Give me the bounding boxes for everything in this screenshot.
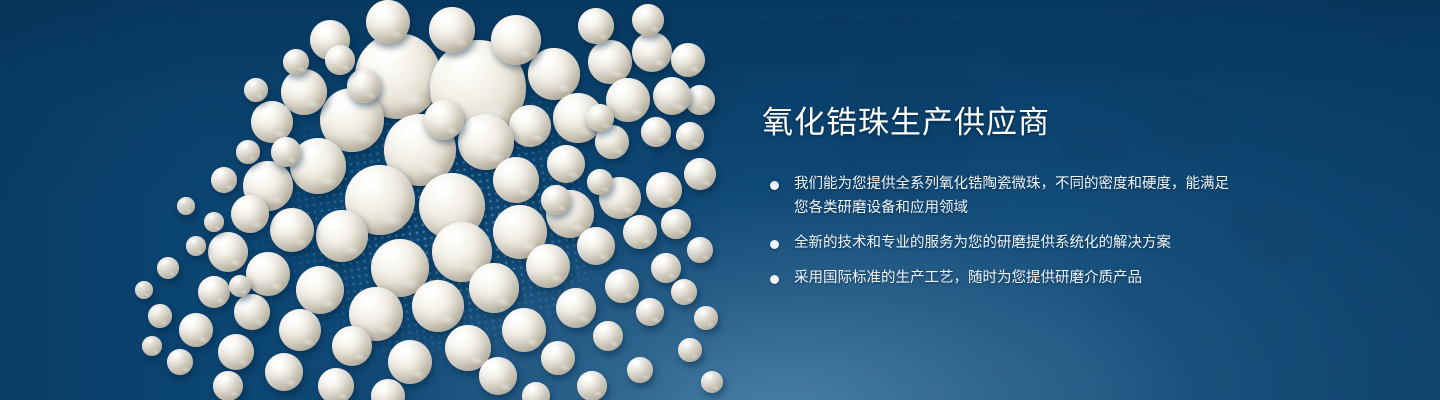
bead xyxy=(577,227,615,265)
bead xyxy=(270,208,314,252)
bead xyxy=(186,236,206,256)
bead xyxy=(623,215,657,249)
list-item: 我们能为您提供全系列氧化锆陶瓷微珠，不同的密度和硬度，能满足您各类研磨设备和应用… xyxy=(762,173,1232,221)
bead xyxy=(316,210,368,262)
bead xyxy=(135,281,153,299)
bead xyxy=(218,334,254,370)
bead xyxy=(231,195,269,233)
bead xyxy=(593,321,623,351)
bead xyxy=(684,158,716,190)
bead xyxy=(522,382,550,400)
bead xyxy=(204,212,224,232)
bead xyxy=(493,157,539,203)
bead xyxy=(412,280,464,332)
bead xyxy=(627,357,653,383)
bead xyxy=(526,244,570,288)
bead xyxy=(265,353,303,391)
list-item-label: 全新的技术和专业的服务为您的研磨提供系统化的解决方案 xyxy=(794,235,1171,251)
bead xyxy=(694,306,718,330)
bead xyxy=(366,0,410,44)
bead xyxy=(671,43,705,77)
list-item-label: 采用国际标准的生产工艺，随时为您提供研磨介质产品 xyxy=(794,270,1142,286)
bead xyxy=(632,32,672,72)
list-item: 采用国际标准的生产工艺，随时为您提供研磨介质产品 xyxy=(762,267,1232,291)
bead xyxy=(469,263,519,313)
bead xyxy=(632,4,664,36)
hero-banner: 氧化锆珠生产供应商 我们能为您提供全系列氧化锆陶瓷微珠，不同的密度和硬度，能满足… xyxy=(0,0,1440,400)
bead xyxy=(283,49,309,75)
bead xyxy=(167,349,193,375)
bead xyxy=(371,379,405,400)
bead xyxy=(148,304,172,328)
bead xyxy=(646,172,682,208)
bead xyxy=(208,232,248,272)
bead xyxy=(424,100,464,140)
bead xyxy=(547,145,585,183)
bead xyxy=(586,104,614,132)
bead xyxy=(279,309,321,351)
bead xyxy=(388,340,432,384)
bead xyxy=(577,371,607,400)
bead xyxy=(528,48,580,100)
bead xyxy=(653,77,691,115)
list-item-label: 我们能为您提供全系列氧化锆陶瓷微珠，不同的密度和硬度，能满足您各类研磨设备和应用… xyxy=(794,176,1229,216)
bead xyxy=(246,252,290,296)
bead xyxy=(142,336,162,356)
bead xyxy=(587,169,613,195)
bead xyxy=(347,69,381,103)
bead xyxy=(325,45,355,75)
bead xyxy=(271,137,301,167)
bead xyxy=(676,122,704,150)
bead xyxy=(157,257,179,279)
bead xyxy=(541,185,571,215)
bead xyxy=(636,298,664,326)
bead xyxy=(213,371,243,400)
bead xyxy=(244,78,268,102)
bead xyxy=(687,237,713,263)
feature-list: 我们能为您提供全系列氧化锆陶瓷微珠，不同的密度和硬度，能满足您各类研磨设备和应用… xyxy=(762,173,1232,291)
bead xyxy=(318,368,354,400)
bead xyxy=(502,308,546,352)
bead xyxy=(429,7,475,53)
bullet-dot-icon xyxy=(770,181,779,190)
bead xyxy=(234,294,270,330)
bead xyxy=(479,357,517,395)
bead xyxy=(651,253,681,283)
bead xyxy=(211,167,237,193)
bead xyxy=(491,15,541,65)
bead xyxy=(296,266,344,314)
bead xyxy=(556,288,596,328)
bead xyxy=(198,276,230,308)
bead xyxy=(541,341,575,375)
bullet-dot-icon xyxy=(770,275,779,284)
bead xyxy=(578,8,614,44)
bead xyxy=(229,275,251,297)
bead xyxy=(701,371,723,393)
bead xyxy=(177,197,195,215)
bead xyxy=(641,117,671,147)
banner-copy: 氧化锆珠生产供应商 我们能为您提供全系列氧化锆陶瓷微珠，不同的密度和硬度，能满足… xyxy=(762,104,1232,290)
bead xyxy=(332,326,372,366)
bead xyxy=(605,269,639,303)
list-item: 全新的技术和专业的服务为您的研磨提供系统化的解决方案 xyxy=(762,232,1232,256)
bead xyxy=(179,313,213,347)
bead xyxy=(509,105,551,147)
bead xyxy=(236,140,260,164)
bullet-dot-icon xyxy=(770,240,779,249)
zirconia-beads-photo xyxy=(0,0,760,400)
bead xyxy=(661,209,691,239)
bead xyxy=(671,279,697,305)
bead xyxy=(678,338,702,362)
page-title: 氧化锆珠生产供应商 xyxy=(762,104,1232,143)
